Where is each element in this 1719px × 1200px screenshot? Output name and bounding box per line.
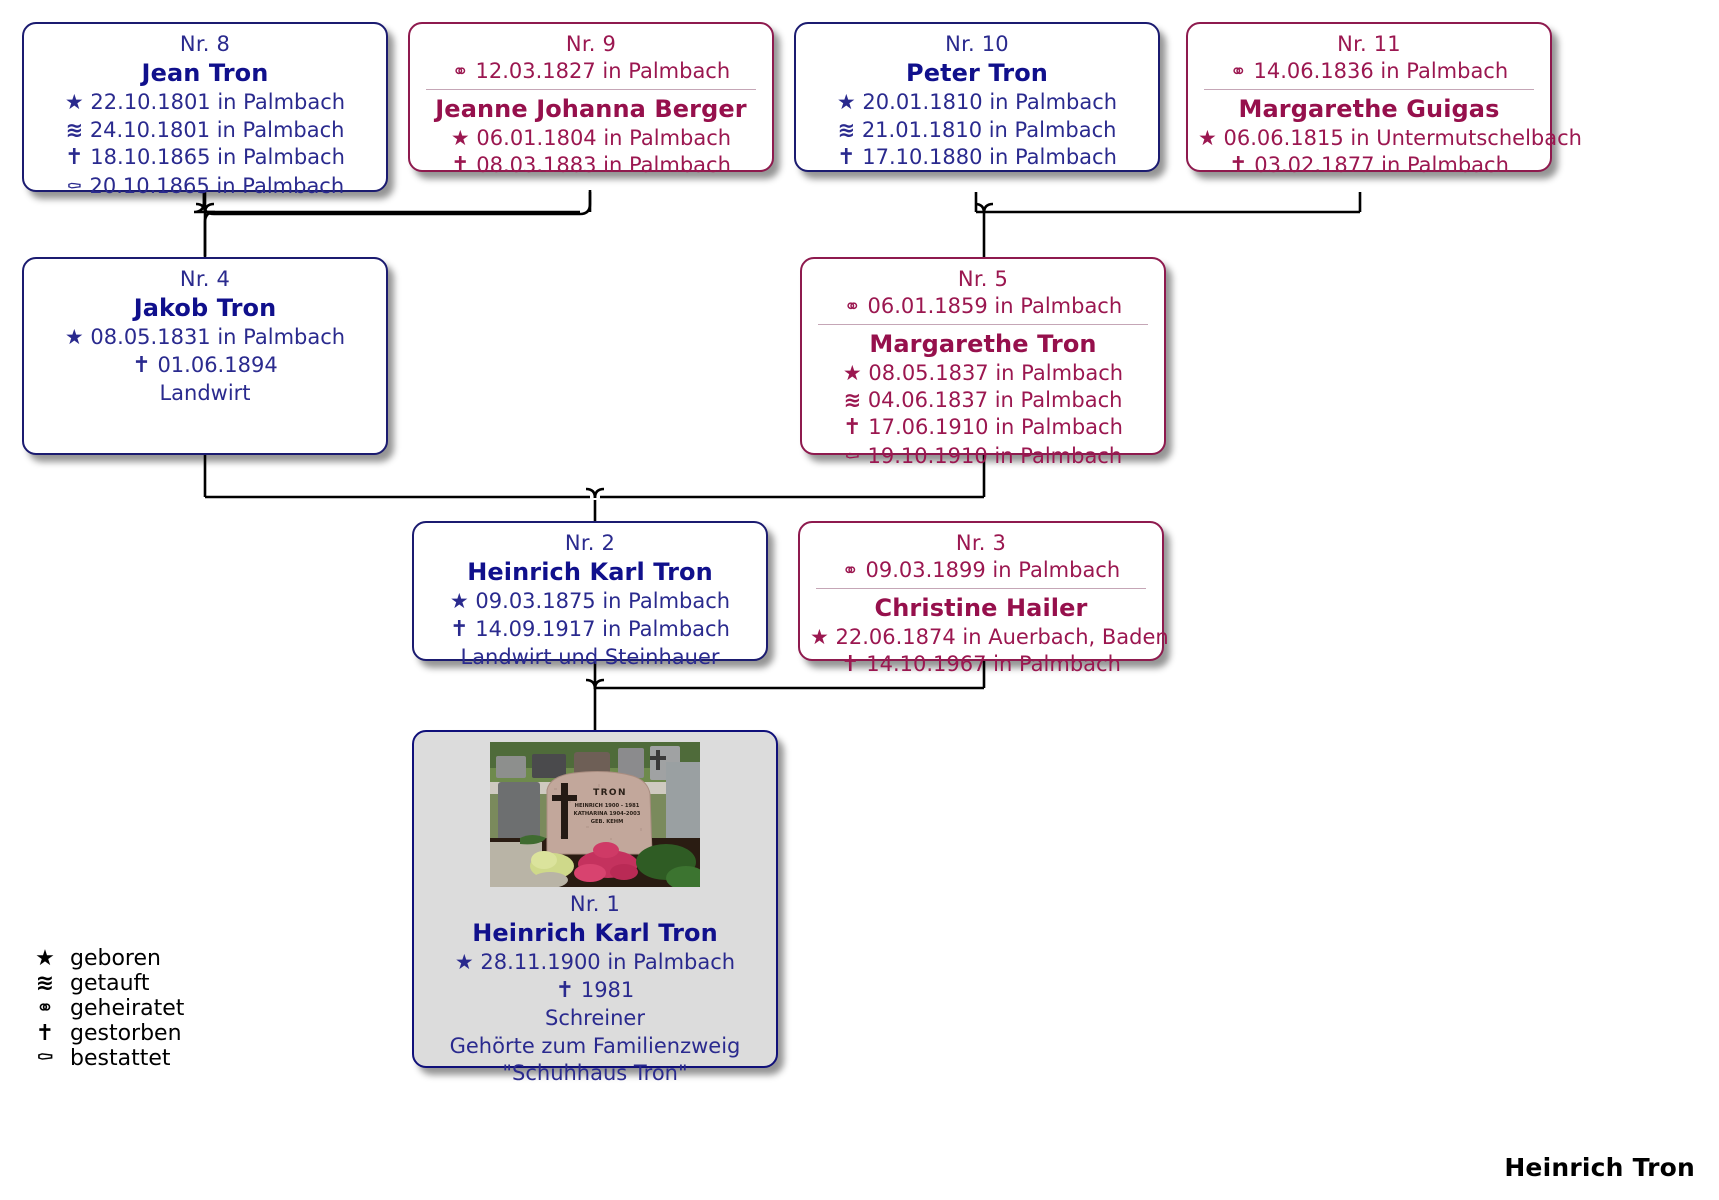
marriage-text: 14.06.1836 in Palmbach bbox=[1254, 59, 1509, 83]
star-icon: ★ bbox=[450, 588, 469, 615]
person-nr: Nr. 8 bbox=[34, 31, 376, 58]
svg-text:KATHARINA 1904-2003: KATHARINA 1904-2003 bbox=[574, 811, 641, 817]
event-death: ✝ 14.09.1917 in Palmbach bbox=[424, 616, 756, 645]
wave-icon: ≋ bbox=[844, 387, 862, 414]
genealogy-chart: Nr. 8 Jean Tron ★ 22.10.1801 in Palmbach… bbox=[0, 0, 1719, 1200]
event-birth: ★ 08.05.1831 in Palmbach bbox=[34, 324, 376, 351]
person-nr: Nr. 9 bbox=[420, 31, 762, 58]
event-text: 28.11.1900 in Palmbach bbox=[480, 950, 735, 974]
legend-label: geheiratet bbox=[62, 996, 184, 1021]
event-text: 22.06.1874 in Auerbach, Baden bbox=[836, 625, 1169, 649]
cross-icon: ✝ bbox=[556, 977, 574, 1006]
legend-item-gestorben: ✝ gestorben bbox=[28, 1021, 184, 1046]
event-text: 24.10.1801 in Palmbach bbox=[90, 118, 345, 142]
event-death: ✝ 08.03.1883 in Palmbach bbox=[420, 152, 762, 181]
person-box-nr-5[interactable]: Nr. 5 ⚭ 06.01.1859 in Palmbach Margareth… bbox=[800, 257, 1166, 455]
person-name: Jeanne Johanna Berger bbox=[420, 94, 762, 125]
event-text: 14.10.1967 in Palmbach bbox=[866, 652, 1121, 676]
person-box-nr-1[interactable]: TRON HEINRICH 1900 - 1981 KATHARINA 1904… bbox=[412, 730, 778, 1068]
event-marriage: ⚭ 12.03.1827 in Palmbach bbox=[420, 58, 762, 85]
star-icon: ★ bbox=[1198, 125, 1217, 152]
event-text: 20.10.1865 in Palmbach bbox=[90, 174, 345, 198]
chart-title: Heinrich Tron bbox=[1504, 1153, 1695, 1182]
occupation: Landwirt und Steinhauer bbox=[424, 644, 756, 671]
wave-icon: ≋ bbox=[838, 117, 856, 144]
coffin-icon: ⚰ bbox=[66, 175, 83, 200]
rings-icon: ⚭ bbox=[1230, 58, 1247, 84]
event-text: 17.06.1910 in Palmbach bbox=[868, 415, 1123, 439]
event-death: ✝ 18.10.1865 in Palmbach bbox=[34, 144, 376, 173]
cross-icon: ✝ bbox=[65, 144, 83, 173]
event-text: 01.06.1894 bbox=[157, 353, 277, 377]
legend-label: geboren bbox=[62, 946, 161, 971]
person-box-nr-10[interactable]: Nr. 10 Peter Tron ★ 20.01.1810 in Palmba… bbox=[794, 22, 1160, 172]
note-line-2: "Schuhhaus Tron" bbox=[424, 1060, 766, 1087]
event-baptism: ≋ 04.06.1837 in Palmbach bbox=[812, 387, 1154, 414]
event-marriage: ⚭ 09.03.1899 in Palmbach bbox=[810, 557, 1152, 584]
event-text: 08.05.1831 in Palmbach bbox=[90, 325, 345, 349]
cross-icon: ✝ bbox=[837, 144, 855, 173]
legend-item-bestattet: ⚰ bestattet bbox=[28, 1046, 184, 1071]
star-icon: ★ bbox=[65, 89, 84, 116]
grave-photo-image: TRON HEINRICH 1900 - 1981 KATHARINA 1904… bbox=[490, 742, 700, 887]
star-icon: ★ bbox=[837, 89, 856, 116]
event-birth: ★ 20.01.1810 in Palmbach bbox=[806, 89, 1148, 116]
person-name: Margarethe Tron bbox=[812, 329, 1154, 360]
rings-icon: ⚭ bbox=[844, 293, 861, 319]
event-text: 17.10.1880 in Palmbach bbox=[862, 145, 1117, 169]
person-name: Heinrich Karl Tron bbox=[424, 557, 756, 588]
person-name: Heinrich Karl Tron bbox=[424, 918, 766, 949]
wave-icon: ≋ bbox=[66, 117, 84, 144]
cross-icon: ✝ bbox=[28, 1021, 62, 1046]
coffin-icon: ⚰ bbox=[28, 1046, 62, 1071]
event-text: 21.01.1810 in Palmbach bbox=[862, 118, 1117, 142]
event-burial: ⚰ 20.10.1865 in Palmbach bbox=[34, 173, 376, 200]
event-text: 06.06.1815 in Untermutschelbach bbox=[1224, 126, 1582, 150]
note-line-1: Gehörte zum Familienzweig bbox=[424, 1033, 766, 1060]
event-birth: ★ 08.05.1837 in Palmbach bbox=[812, 360, 1154, 387]
rings-icon: ⚭ bbox=[842, 557, 859, 583]
event-text: 03.02.1877 in Palmbach bbox=[1254, 153, 1509, 177]
event-marriage: ⚭ 06.01.1859 in Palmbach bbox=[812, 293, 1154, 320]
event-baptism: ≋ 21.01.1810 in Palmbach bbox=[806, 117, 1148, 144]
svg-text:TRON: TRON bbox=[593, 788, 627, 798]
event-death: ✝ 01.06.1894 bbox=[34, 352, 376, 381]
event-text: 22.10.1801 in Palmbach bbox=[90, 90, 345, 114]
person-name: Jakob Tron bbox=[34, 293, 376, 324]
person-name: Peter Tron bbox=[806, 58, 1148, 89]
event-death: ✝ 03.02.1877 in Palmbach bbox=[1198, 152, 1540, 181]
event-birth: ★ 06.01.1804 in Palmbach bbox=[420, 125, 762, 152]
cross-icon: ✝ bbox=[1229, 152, 1247, 181]
star-icon: ★ bbox=[455, 949, 474, 976]
event-death: ✝ 14.10.1967 in Palmbach bbox=[810, 651, 1152, 680]
legend-item-geboren: ★ geboren bbox=[28, 946, 184, 971]
rings-icon: ⚭ bbox=[452, 58, 469, 84]
event-baptism: ≋ 24.10.1801 in Palmbach bbox=[34, 117, 376, 144]
person-nr: Nr. 11 bbox=[1198, 31, 1540, 58]
event-text: 09.03.1875 in Palmbach bbox=[475, 589, 730, 613]
event-marriage: ⚭ 14.06.1836 in Palmbach bbox=[1198, 58, 1540, 85]
cross-icon: ✝ bbox=[450, 616, 468, 645]
person-box-nr-3[interactable]: Nr. 3 ⚭ 09.03.1899 in Palmbach Christine… bbox=[798, 521, 1164, 661]
divider bbox=[816, 588, 1146, 589]
person-nr: Nr. 4 bbox=[34, 266, 376, 293]
event-text: 18.10.1865 in Palmbach bbox=[90, 145, 345, 169]
event-birth: ★ 28.11.1900 in Palmbach bbox=[424, 949, 766, 976]
star-icon: ★ bbox=[451, 125, 470, 152]
event-death: ✝ 17.06.1910 in Palmbach bbox=[812, 414, 1154, 443]
marriage-text: 06.01.1859 in Palmbach bbox=[868, 294, 1123, 318]
occupation: Landwirt bbox=[34, 380, 376, 407]
legend-item-getauft: ≋ getauft bbox=[28, 971, 184, 996]
person-name: Christine Hailer bbox=[810, 593, 1152, 624]
legend-item-geheiratet: ⚭ geheiratet bbox=[28, 996, 184, 1021]
event-birth: ★ 06.06.1815 in Untermutschelbach bbox=[1198, 125, 1540, 152]
person-box-nr-2[interactable]: Nr. 2 Heinrich Karl Tron ★ 09.03.1875 in… bbox=[412, 521, 768, 661]
grave-photo: TRON HEINRICH 1900 - 1981 KATHARINA 1904… bbox=[490, 742, 700, 887]
divider bbox=[426, 89, 756, 90]
person-nr: Nr. 2 bbox=[424, 530, 756, 557]
person-nr: Nr. 3 bbox=[810, 530, 1152, 557]
person-box-nr-9[interactable]: Nr. 9 ⚭ 12.03.1827 in Palmbach Jeanne Jo… bbox=[408, 22, 774, 172]
person-box-nr-4[interactable]: Nr. 4 Jakob Tron ★ 08.05.1831 in Palmbac… bbox=[22, 257, 388, 455]
person-nr: Nr. 5 bbox=[812, 266, 1154, 293]
rings-icon: ⚭ bbox=[28, 996, 62, 1021]
cross-icon: ✝ bbox=[451, 152, 469, 181]
cross-icon: ✝ bbox=[843, 414, 861, 443]
marriage-text: 09.03.1899 in Palmbach bbox=[866, 558, 1121, 582]
person-nr: Nr. 10 bbox=[806, 31, 1148, 58]
wave-icon: ≋ bbox=[28, 971, 62, 996]
svg-text:GEB. KEHM: GEB. KEHM bbox=[591, 819, 624, 825]
marriage-text: 12.03.1827 in Palmbach bbox=[476, 59, 731, 83]
event-burial: ⚰ 19.10.1910 in Palmbach bbox=[812, 443, 1154, 470]
event-text: 1981 bbox=[581, 978, 634, 1002]
event-text: 08.05.1837 in Palmbach bbox=[868, 361, 1123, 385]
event-text: 20.01.1810 in Palmbach bbox=[862, 90, 1117, 114]
person-box-nr-11[interactable]: Nr. 11 ⚭ 14.06.1836 in Palmbach Margaret… bbox=[1186, 22, 1552, 172]
event-birth: ★ 09.03.1875 in Palmbach bbox=[424, 588, 756, 615]
svg-text:HEINRICH 1900 - 1981: HEINRICH 1900 - 1981 bbox=[575, 803, 640, 809]
event-birth: ★ 22.06.1874 in Auerbach, Baden bbox=[810, 624, 1152, 651]
star-icon: ★ bbox=[28, 946, 62, 971]
divider bbox=[818, 324, 1148, 325]
event-text: 14.09.1917 in Palmbach bbox=[475, 617, 730, 641]
event-text: 19.10.1910 in Palmbach bbox=[868, 444, 1123, 468]
event-death: ✝ 17.10.1880 in Palmbach bbox=[806, 144, 1148, 173]
divider bbox=[1204, 89, 1534, 90]
legend-label: bestattet bbox=[62, 1046, 170, 1071]
legend-label: gestorben bbox=[62, 1021, 182, 1046]
person-name: Jean Tron bbox=[34, 58, 376, 89]
event-text: 04.06.1837 in Palmbach bbox=[868, 388, 1123, 412]
cross-icon: ✝ bbox=[132, 352, 150, 381]
event-text: 08.03.1883 in Palmbach bbox=[476, 153, 731, 177]
occupation: Schreiner bbox=[424, 1005, 766, 1032]
star-icon: ★ bbox=[843, 360, 862, 387]
star-icon: ★ bbox=[810, 624, 829, 651]
event-birth: ★ 22.10.1801 in Palmbach bbox=[34, 89, 376, 116]
cross-icon: ✝ bbox=[841, 651, 859, 680]
star-icon: ★ bbox=[65, 324, 84, 351]
person-nr: Nr. 1 bbox=[424, 891, 766, 918]
legend: ★ geboren ≋ getauft ⚭ geheiratet ✝ gesto… bbox=[28, 946, 184, 1071]
event-text: 06.01.1804 in Palmbach bbox=[476, 126, 731, 150]
person-box-nr-8[interactable]: Nr. 8 Jean Tron ★ 22.10.1801 in Palmbach… bbox=[22, 22, 388, 192]
event-death: ✝ 1981 bbox=[424, 977, 766, 1006]
person-name: Margarethe Guigas bbox=[1198, 94, 1540, 125]
coffin-icon: ⚰ bbox=[844, 445, 861, 470]
legend-label: getauft bbox=[62, 971, 150, 996]
